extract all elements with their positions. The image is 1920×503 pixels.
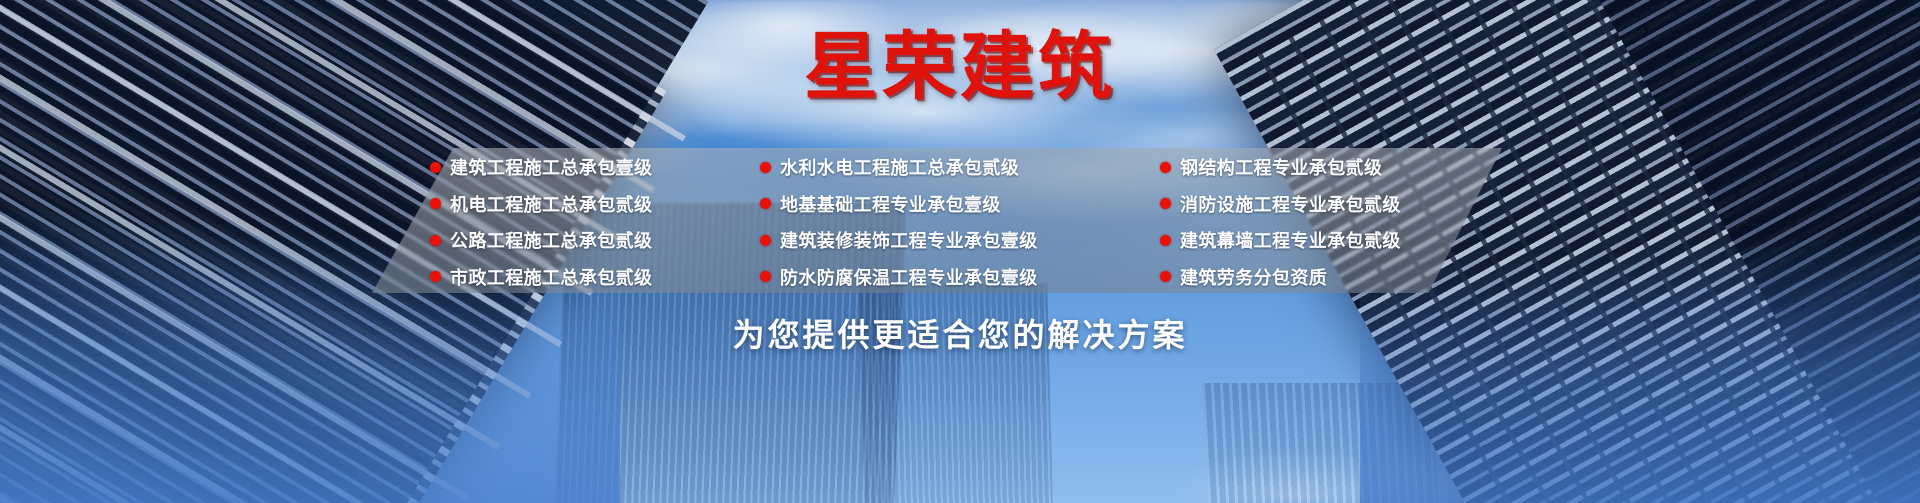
qualification-column-2: 水利水电工程施工总承包贰级 地基基础工程专业承包壹级 建筑装修装饰工程专业承包壹… bbox=[760, 146, 1160, 296]
bullet-icon bbox=[1160, 235, 1171, 246]
company-title: 星荣建筑 bbox=[0, 24, 1920, 109]
qualification-label: 机电工程施工总承包贰级 bbox=[450, 191, 652, 217]
list-item: 市政工程施工总承包贰级 bbox=[430, 264, 760, 290]
list-item: 防水防腐保温工程专业承包壹级 bbox=[760, 264, 1160, 290]
bullet-icon bbox=[760, 235, 771, 246]
list-item: 地基基础工程专业承包壹级 bbox=[760, 191, 1160, 217]
list-item: 建筑装修装饰工程专业承包壹级 bbox=[760, 227, 1160, 253]
qualification-label: 建筑装修装饰工程专业承包壹级 bbox=[780, 227, 1038, 253]
bullet-icon bbox=[1160, 198, 1171, 209]
bullet-icon bbox=[430, 162, 441, 173]
qualification-columns: 建筑工程施工总承包壹级 机电工程施工总承包贰级 公路工程施工总承包贰级 市政工程… bbox=[430, 146, 1510, 296]
bullet-icon bbox=[430, 271, 441, 282]
qualification-label: 建筑劳务分包资质 bbox=[1180, 264, 1327, 290]
list-item: 机电工程施工总承包贰级 bbox=[430, 191, 760, 217]
tagline: 为您提供更适合您的解决方案 bbox=[0, 310, 1920, 356]
list-item: 建筑工程施工总承包壹级 bbox=[430, 154, 760, 180]
qualification-label: 消防设施工程专业承包贰级 bbox=[1180, 191, 1401, 217]
qualification-label: 地基基础工程专业承包壹级 bbox=[780, 191, 1001, 217]
list-item: 公路工程施工总承包贰级 bbox=[430, 227, 760, 253]
list-item: 建筑幕墙工程专业承包贰级 bbox=[1160, 227, 1510, 253]
qualification-label: 建筑工程施工总承包壹级 bbox=[450, 154, 652, 180]
bullet-icon bbox=[1160, 271, 1171, 282]
qualification-column-3: 钢结构工程专业承包贰级 消防设施工程专业承包贰级 建筑幕墙工程专业承包贰级 建筑… bbox=[1160, 146, 1510, 296]
list-item: 钢结构工程专业承包贰级 bbox=[1160, 154, 1510, 180]
bullet-icon bbox=[760, 198, 771, 209]
hero-banner: 星荣建筑 建筑工程施工总承包壹级 机电工程施工总承包贰级 公路工程施工总承包贰级… bbox=[0, 0, 1920, 503]
bullet-icon bbox=[1160, 162, 1171, 173]
qualification-label: 公路工程施工总承包贰级 bbox=[450, 227, 652, 253]
list-item: 消防设施工程专业承包贰级 bbox=[1160, 191, 1510, 217]
bullet-icon bbox=[430, 198, 441, 209]
bullet-icon bbox=[760, 162, 771, 173]
bullet-icon bbox=[760, 271, 771, 282]
list-item: 水利水电工程施工总承包贰级 bbox=[760, 154, 1160, 180]
qualification-label: 市政工程施工总承包贰级 bbox=[450, 264, 652, 290]
list-item: 建筑劳务分包资质 bbox=[1160, 264, 1510, 290]
qualification-column-1: 建筑工程施工总承包壹级 机电工程施工总承包贰级 公路工程施工总承包贰级 市政工程… bbox=[430, 146, 760, 296]
qualification-label: 防水防腐保温工程专业承包壹级 bbox=[780, 264, 1038, 290]
qualification-label: 水利水电工程施工总承包贰级 bbox=[780, 154, 1019, 180]
bullet-icon bbox=[430, 235, 441, 246]
qualification-label: 建筑幕墙工程专业承包贰级 bbox=[1180, 227, 1401, 253]
qualification-label: 钢结构工程专业承包贰级 bbox=[1180, 154, 1382, 180]
